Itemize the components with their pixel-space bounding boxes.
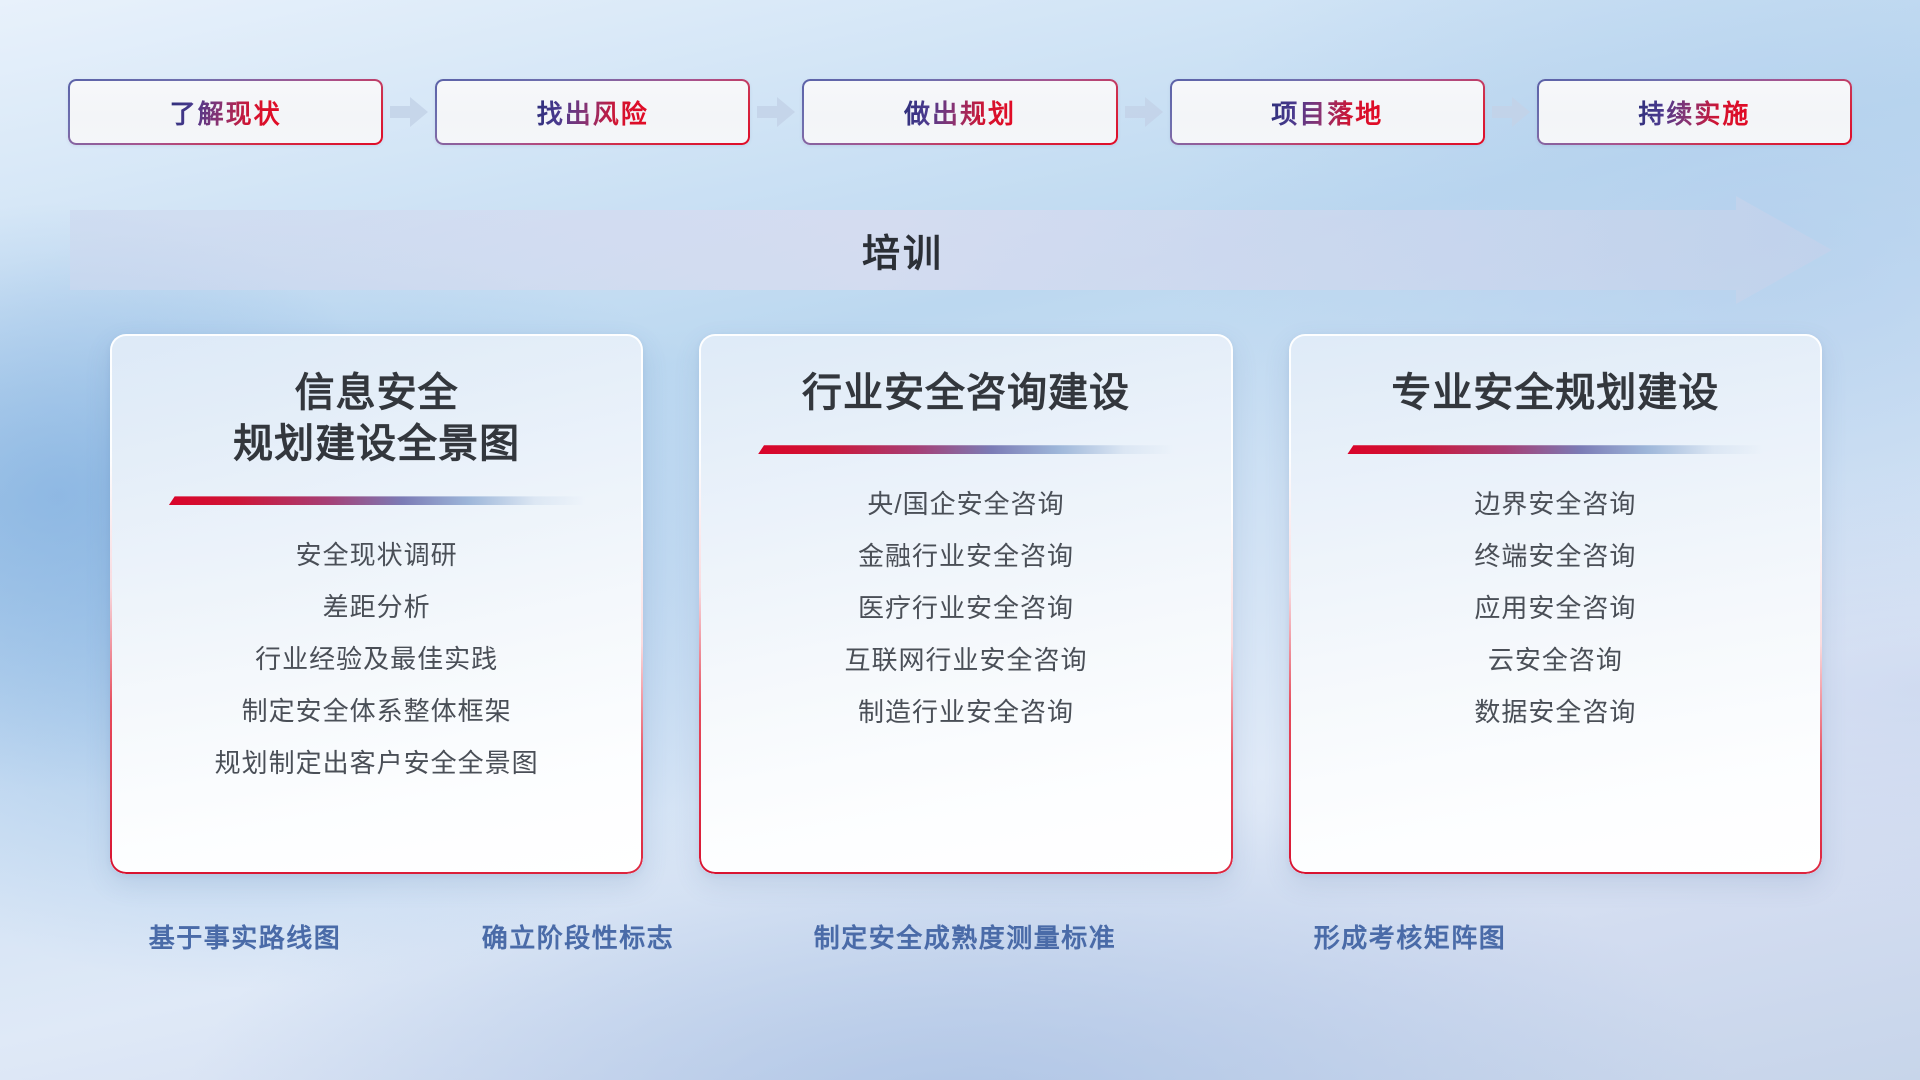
list-item[interactable]: 制定安全体系整体框架 [110,685,643,737]
card-divider [1347,445,1763,454]
card-title: 专业安全规划建设 [1391,368,1719,419]
card-title-line: 行业安全咨询建设 [802,368,1130,419]
footnote-label: 制定安全成熟度测量标准 [814,918,1117,955]
list-item[interactable]: 安全现状调研 [110,529,643,581]
chevron-right-arrow-icon [1485,94,1537,130]
card-title-line: 专业安全规划建设 [1391,368,1719,419]
capability-card-group: 信息安全规划建设全景图安全现状调研差距分析行业经验及最佳实践制定安全体系整体框架… [110,334,1822,874]
list-item[interactable]: 边界安全咨询 [1289,478,1822,530]
process-step-label: 项目落地 [1271,94,1383,131]
training-banner: 培训 [70,196,1832,304]
list-item[interactable]: 医疗行业安全咨询 [699,582,1232,634]
card-item-list: 央/国企安全咨询金融行业安全咨询医疗行业安全咨询互联网行业安全咨询制造行业安全咨… [699,464,1232,738]
process-step-2[interactable]: 找出风险 [435,79,750,145]
card-divider [169,496,585,505]
chevron-right-arrow-icon [1118,94,1170,130]
card-item-list: 安全现状调研差距分析行业经验及最佳实践制定安全体系整体框架规划制定出客户安全全景… [110,515,643,789]
process-step-label: 找出风险 [537,94,649,131]
footnote-label: 确立阶段性标志 [482,918,675,955]
capability-card-1[interactable]: 信息安全规划建设全景图安全现状调研差距分析行业经验及最佳实践制定安全体系整体框架… [110,334,643,874]
capability-card-3[interactable]: 专业安全规划建设边界安全咨询终端安全咨询应用安全咨询云安全咨询数据安全咨询 [1289,334,1822,874]
process-step-4[interactable]: 项目落地 [1170,79,1485,145]
slide-canvas: 了解现状找出风险做出规划项目落地持续实施 培训 信息安全规划建设全景图安全现状调… [0,0,1920,1080]
banner-label: 培训 [70,223,1736,278]
card-title: 行业安全咨询建设 [802,368,1130,419]
list-item[interactable]: 行业经验及最佳实践 [110,633,643,685]
list-item[interactable]: 云安全咨询 [1289,634,1822,686]
card-divider [758,445,1174,454]
card-title-line: 信息安全 [233,368,520,419]
list-item[interactable]: 央/国企安全咨询 [699,478,1232,530]
list-item[interactable]: 金融行业安全咨询 [699,530,1232,582]
list-item[interactable]: 规划制定出客户安全全景图 [110,737,643,789]
footnote-row: 基于事实路线图确立阶段性标志制定安全成熟度测量标准形成考核矩阵图 [0,918,1920,962]
card-title: 信息安全规划建设全景图 [233,368,520,470]
footnote-label: 形成考核矩阵图 [1314,918,1507,955]
chevron-right-arrow-icon [383,94,435,130]
process-step-5[interactable]: 持续实施 [1537,79,1852,145]
footnote-label: 基于事实路线图 [149,918,342,955]
card-item-list: 边界安全咨询终端安全咨询应用安全咨询云安全咨询数据安全咨询 [1289,464,1822,738]
process-step-label: 了解现状 [170,94,282,131]
process-step-flow: 了解现状找出风险做出规划项目落地持续实施 [68,78,1852,146]
list-item[interactable]: 制造行业安全咨询 [699,686,1232,738]
process-step-1[interactable]: 了解现状 [68,79,383,145]
list-item[interactable]: 应用安全咨询 [1289,582,1822,634]
capability-card-2[interactable]: 行业安全咨询建设央/国企安全咨询金融行业安全咨询医疗行业安全咨询互联网行业安全咨… [699,334,1232,874]
list-item[interactable]: 终端安全咨询 [1289,530,1822,582]
card-title-line: 规划建设全景图 [233,419,520,470]
chevron-right-arrow-icon [750,94,802,130]
process-step-label: 做出规划 [904,94,1016,131]
list-item[interactable]: 数据安全咨询 [1289,686,1822,738]
process-step-label: 持续实施 [1638,94,1750,131]
list-item[interactable]: 差距分析 [110,581,643,633]
process-step-3[interactable]: 做出规划 [802,79,1117,145]
list-item[interactable]: 互联网行业安全咨询 [699,634,1232,686]
